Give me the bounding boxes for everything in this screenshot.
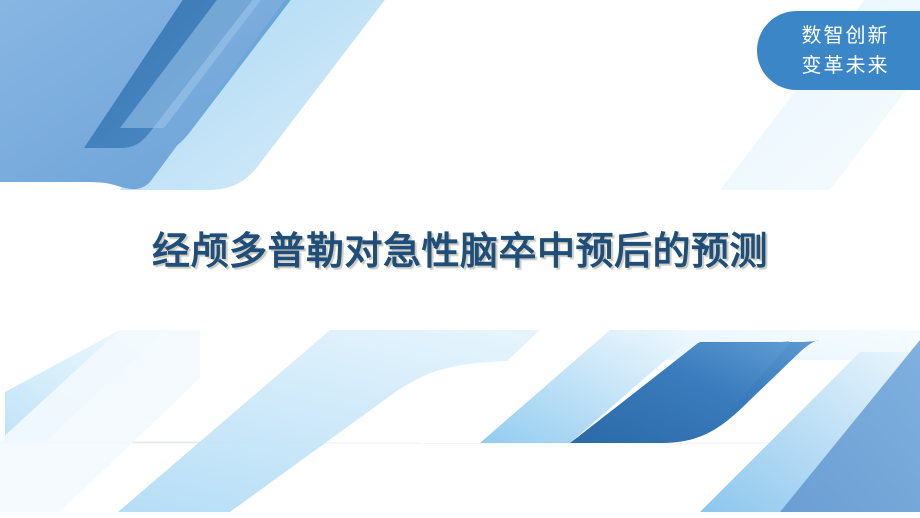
tagline-badge: 数智创新 变革未来 (757, 11, 920, 90)
slide-canvas: 数智创新 变革未来 经颅多普勒对急性脑卒中预后的预测 (0, 0, 920, 518)
tagline-line-2: 变革未来 (787, 50, 904, 80)
tagline-line-1: 数智创新 (787, 20, 904, 50)
bottom-decoration-group (0, 322, 920, 512)
